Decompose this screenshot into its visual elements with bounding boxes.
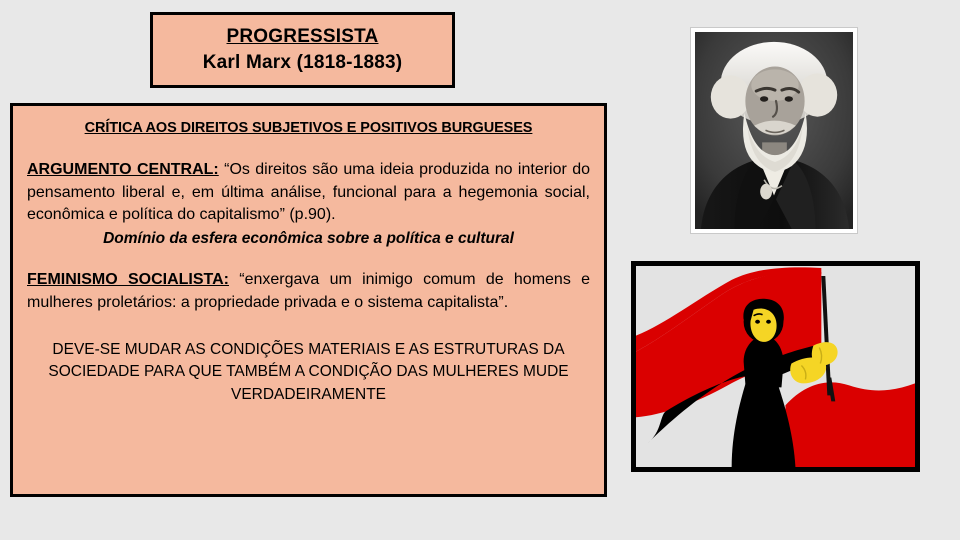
title-secondary: Karl Marx (1818-1883) (203, 50, 403, 76)
karl-marx-portrait-frame (690, 27, 858, 234)
conclusion-text: DEVE-SE MUDAR AS CONDIÇÕES MATERIAIS E A… (27, 339, 590, 406)
title-box: PROGRESSISTA Karl Marx (1818-1883) (150, 12, 455, 88)
subline-emphasis: Domínio da esfera econômica sobre a polí… (27, 229, 590, 249)
feminism-lead-label: FEMINISMO SOCIALISTA: (27, 271, 229, 288)
karl-marx-portrait-image (695, 32, 853, 229)
content-box: CRÍTICA AOS DIREITOS SUBJETIVOS E POSITI… (10, 103, 607, 497)
feminism-paragraph: FEMINISMO SOCIALISTA: “enxergava um inim… (27, 269, 590, 314)
argument-paragraph: ARGUMENTO CENTRAL: “Os direitos são uma … (27, 159, 590, 227)
title-primary: PROGRESSISTA (227, 24, 379, 50)
slide-canvas: PROGRESSISTA Karl Marx (1818-1883) CRÍTI… (0, 0, 960, 540)
socialist-feminism-poster (631, 261, 920, 472)
argument-lead-label: ARGUMENTO CENTRAL: (27, 161, 219, 178)
section-heading: CRÍTICA AOS DIREITOS SUBJETIVOS E POSITI… (27, 119, 590, 138)
